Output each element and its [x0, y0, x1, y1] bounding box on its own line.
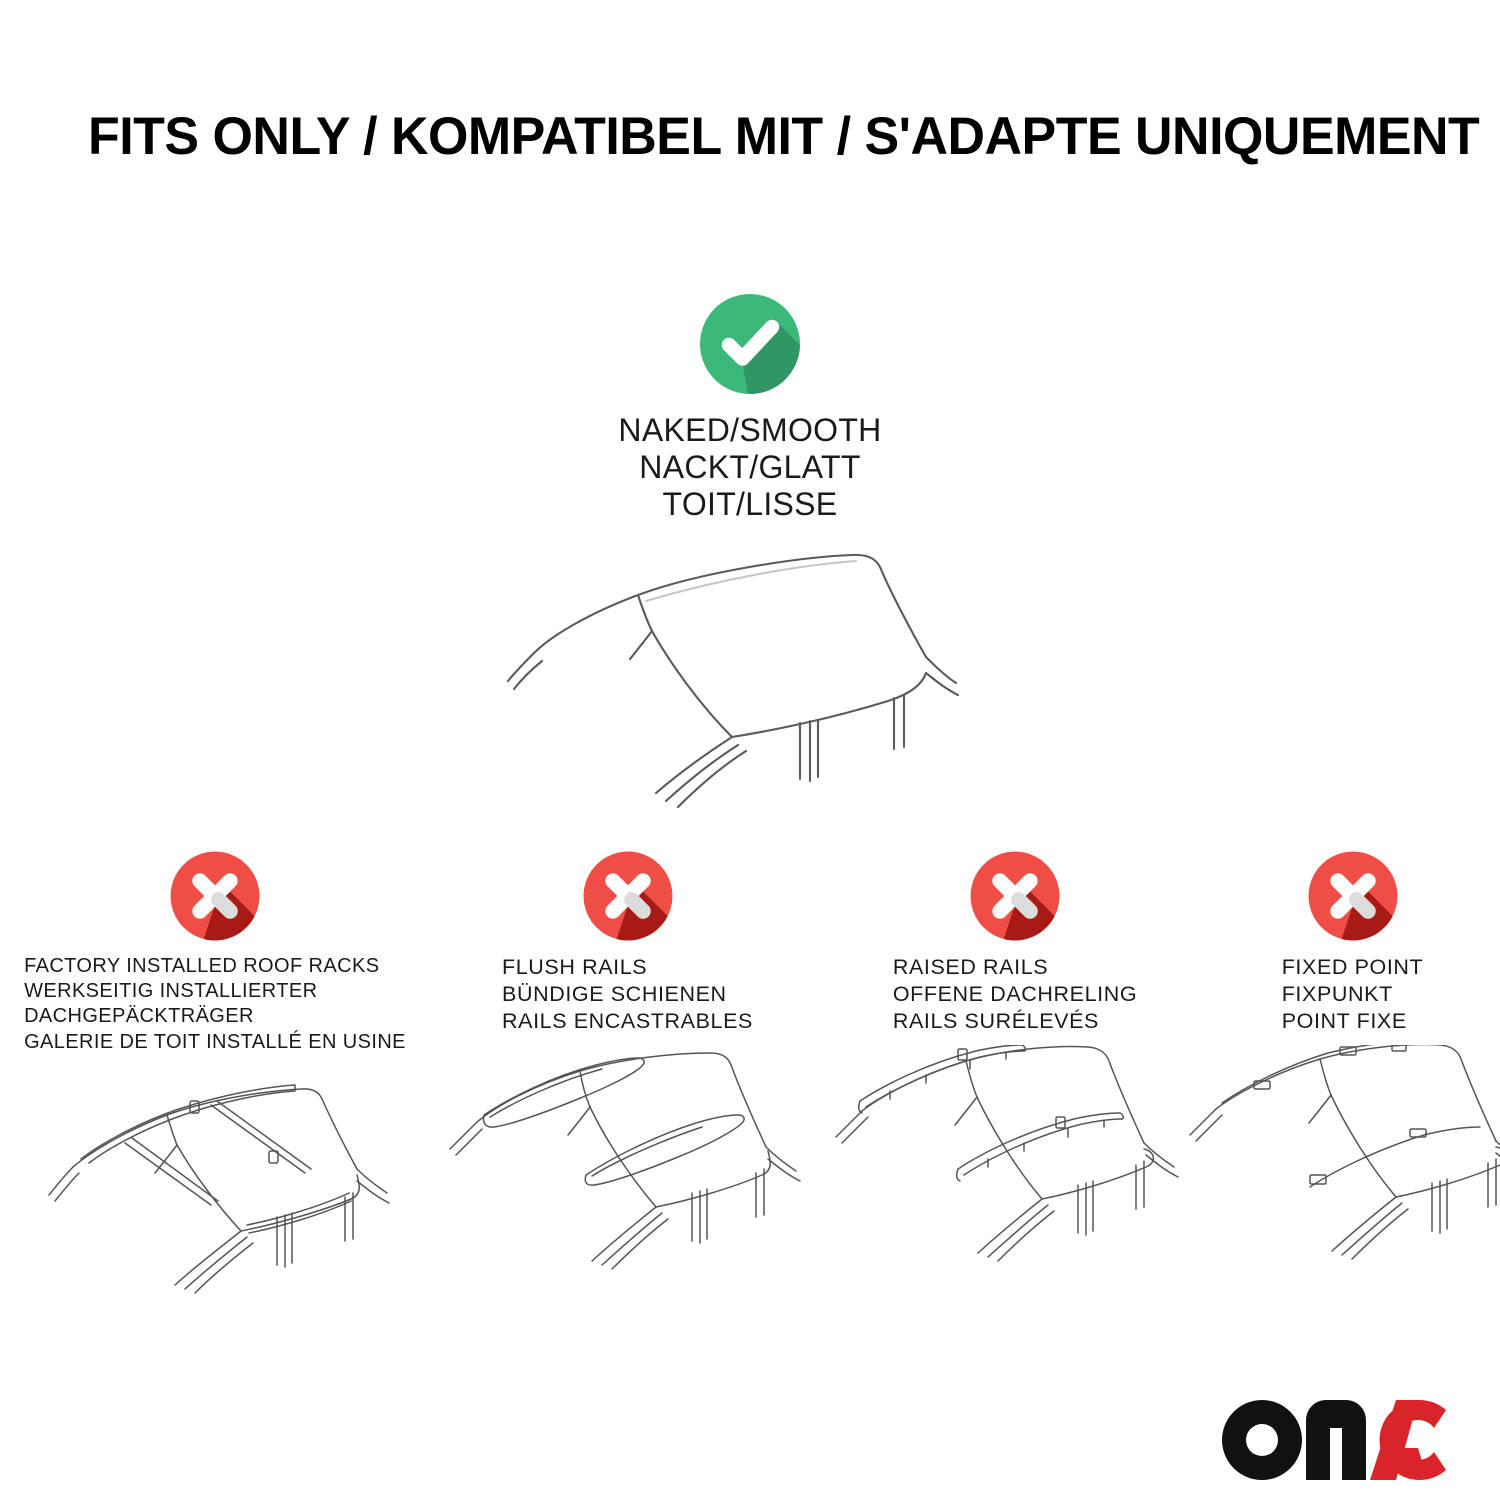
omac-logo: [1218, 1398, 1448, 1489]
logo-letter-m: [1306, 1400, 1366, 1480]
cross-circle-icon: [167, 848, 263, 944]
not-compatible-item-raised-rails: RAISED RAILS OFFENE DACHRELING RAILS SUR…: [825, 848, 1205, 1280]
not-compatible-item-fixed-point: FIXED POINT FIXPUNKT POINT FIXE: [1205, 848, 1500, 1280]
raised-rails-illustration: [830, 1045, 1200, 1280]
label-stack: FIXED POINT FIXPUNKT POINT FIXE: [1282, 954, 1424, 1035]
label-line-1: RAISED RAILS: [893, 954, 1137, 981]
label-line-3: RAILS SURÉLEVÉS: [893, 1008, 1137, 1035]
not-compatible-item-factory-roof-racks: FACTORY INSTALLED ROOF RACKS WERKSEITIG …: [0, 848, 430, 1300]
cross-circle-icon: [1305, 848, 1401, 944]
fixed-point-illustration: [1188, 1045, 1500, 1280]
label-line-3: DACHGEPÄCKTRÄGER: [24, 1004, 406, 1029]
label-line-3: POINT FIXE: [1282, 1008, 1424, 1035]
label-line-1: FIXED POINT: [1282, 954, 1424, 981]
page-title: FITS ONLY / KOMPATIBEL MIT / S'ADAPTE UN…: [88, 106, 1391, 167]
label-line-2: WERKSEITIG INSTALLIERTER: [24, 979, 406, 1004]
label-line-2: OFFENE DACHRELING: [893, 981, 1137, 1008]
flush-rails-illustration: [438, 1045, 818, 1280]
logo-letter-o: [1222, 1400, 1302, 1480]
factory-roof-rack-illustration: [15, 1065, 415, 1300]
label-stack: RAISED RAILS OFFENE DACHRELING RAILS SUR…: [893, 954, 1137, 1035]
check-circle-icon: [696, 290, 804, 398]
label-line-2: BÜNDIGE SCHIENEN: [502, 981, 753, 1008]
not-compatible-item-flush-rails: FLUSH RAILS BÜNDIGE SCHIENEN RAILS ENCAS…: [430, 848, 825, 1280]
compatible-label-stack: NAKED/SMOOTH NACKT/GLATT TOIT/LISSE: [0, 412, 1500, 523]
label-line-3: RAILS ENCASTRABLES: [502, 1008, 753, 1035]
compatible-label-line-3: TOIT/LISSE: [0, 486, 1500, 523]
compatible-section: NAKED/SMOOTH NACKT/GLATT TOIT/LISSE: [0, 290, 1500, 830]
label-line-4: GALERIE DE TOIT INSTALLÉ EN USINE: [24, 1030, 406, 1055]
label-line-2: FIXPUNKT: [1282, 981, 1424, 1008]
omac-logo-mark: [1218, 1398, 1448, 1484]
label-line-1: FACTORY INSTALLED ROOF RACKS: [24, 954, 406, 979]
label-stack: FACTORY INSTALLED ROOF RACKS WERKSEITIG …: [24, 954, 406, 1055]
compatible-label-line-2: NACKT/GLATT: [0, 449, 1500, 486]
not-compatible-section: FACTORY INSTALLED ROOF RACKS WERKSEITIG …: [0, 848, 1500, 1300]
cross-circle-icon: [580, 848, 676, 944]
cross-circle-icon: [967, 848, 1063, 944]
naked-smooth-roof-illustration: [0, 535, 1500, 830]
label-line-1: FLUSH RAILS: [502, 954, 753, 981]
compatible-label-line-1: NAKED/SMOOTH: [0, 412, 1500, 449]
label-stack: FLUSH RAILS BÜNDIGE SCHIENEN RAILS ENCAS…: [502, 954, 753, 1035]
